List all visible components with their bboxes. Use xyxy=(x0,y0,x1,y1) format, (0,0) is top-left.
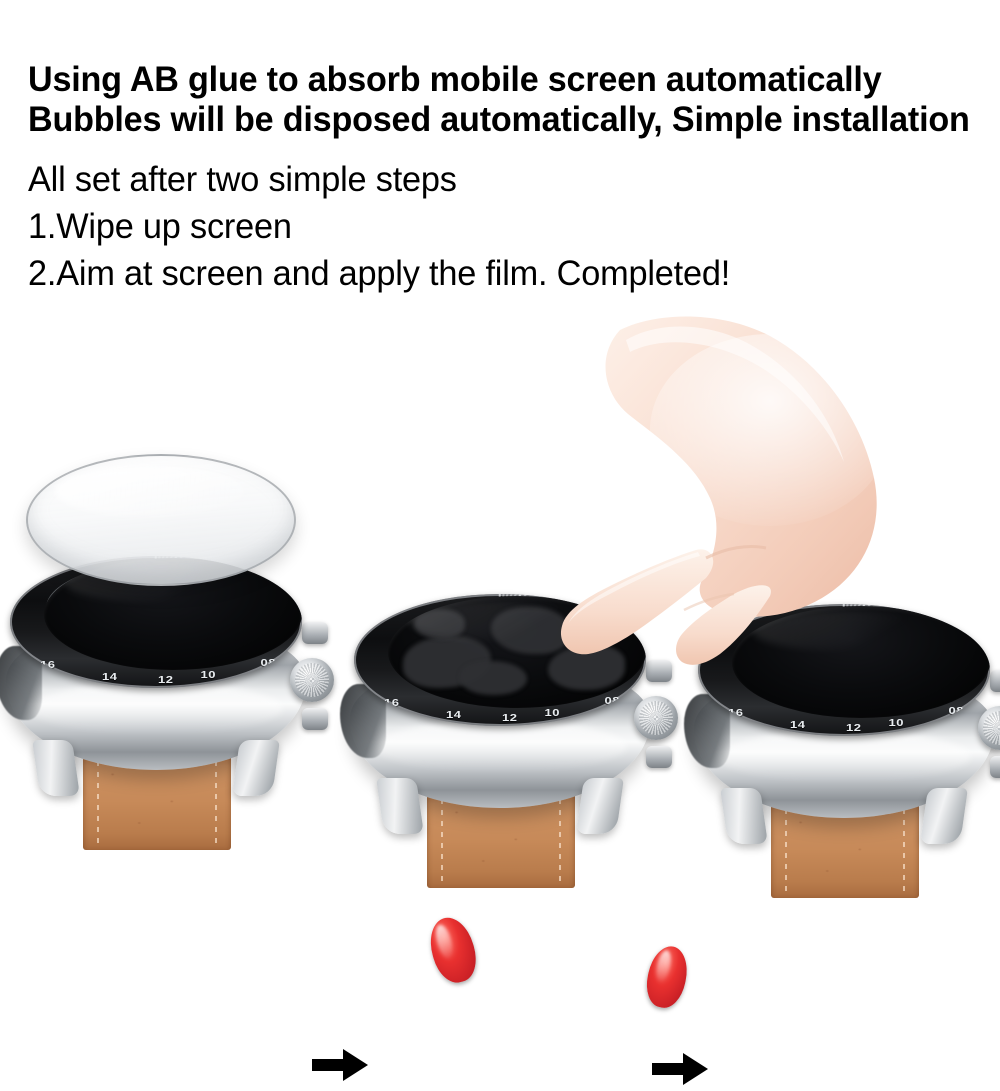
bezel-numeral-10: 10 xyxy=(889,717,904,729)
bezel-numeral-14: 14 xyxy=(446,709,461,721)
instruction-graphic: Using AB glue to absorb mobile screen au… xyxy=(0,0,1000,1000)
watch-pusher-bottom xyxy=(990,756,1000,778)
case-sheen xyxy=(30,683,282,734)
bezel-numeral-14: 14 xyxy=(102,671,117,683)
watch-pusher-bottom xyxy=(302,708,328,730)
watch-bezel: 16 14 12 10 08 xyxy=(354,594,646,726)
watch-lug-left xyxy=(720,788,768,844)
illustration-scene: 16 14 12 10 08 xyxy=(0,300,1000,920)
arrow-step-1-to-2 xyxy=(312,1048,368,1082)
bezel-numeral-14: 14 xyxy=(790,719,805,731)
watch-bezel: 16 14 12 10 08 xyxy=(698,604,990,736)
arrow-step-2-to-3 xyxy=(652,1052,708,1086)
headline-secondary: Bubbles will be disposed automatically, … xyxy=(28,100,964,140)
watch-pusher-top xyxy=(646,660,672,682)
instruction-copy-block: Using AB glue to absorb mobile screen au… xyxy=(28,60,988,297)
bubble xyxy=(460,661,527,695)
copy-spacer xyxy=(28,140,988,156)
nail-polish xyxy=(642,943,692,1012)
lead-text: All set after two simple steps xyxy=(28,156,969,203)
bezel-numeral-12: 12 xyxy=(502,712,517,724)
watch-step-1: 16 14 12 10 08 xyxy=(0,550,322,850)
fingernail-index xyxy=(424,912,483,987)
watch-pusher-top xyxy=(302,622,328,644)
bezel-numeral-12: 12 xyxy=(846,722,861,734)
headline-primary: Using AB glue to absorb mobile screen au… xyxy=(28,60,964,100)
step-1-text: 1.Wipe up screen xyxy=(28,203,969,250)
bezel-numeral-10: 10 xyxy=(201,669,216,681)
nail-polish xyxy=(424,912,483,987)
bezel-numeral-12: 12 xyxy=(158,674,173,686)
watch-lug-right xyxy=(920,788,968,844)
bubble xyxy=(548,645,625,690)
screen-protector-film xyxy=(26,454,296,586)
bezel-numeral-16: 16 xyxy=(728,707,743,719)
watch-pusher-top xyxy=(990,670,1000,692)
bezel-numeral-08: 08 xyxy=(949,705,964,717)
bezel-numeral-10: 10 xyxy=(545,707,560,719)
fingernail-middle xyxy=(642,943,692,1012)
watch-lug-right xyxy=(232,740,280,796)
screen-glint xyxy=(753,610,934,650)
watch-lug-left xyxy=(32,740,80,796)
step-2-text: 2.Aim at screen and apply the film. Comp… xyxy=(28,250,969,297)
case-sheen xyxy=(718,731,970,782)
film-sheen xyxy=(55,466,247,517)
screen-glint xyxy=(409,600,590,640)
watch-pusher-bottom xyxy=(646,746,672,768)
watch-lug-left xyxy=(376,778,424,834)
bezel-numeral-16: 16 xyxy=(40,659,55,671)
case-sheen xyxy=(374,721,626,772)
watch-screen xyxy=(388,596,646,708)
bezel-numeral-08: 08 xyxy=(261,657,276,669)
watch-step-3: 16 14 12 10 08 xyxy=(680,598,1000,898)
watch-screen xyxy=(732,606,990,718)
watch-lug-right xyxy=(576,778,624,834)
watch-step-2: 16 14 12 10 08 xyxy=(336,588,666,888)
